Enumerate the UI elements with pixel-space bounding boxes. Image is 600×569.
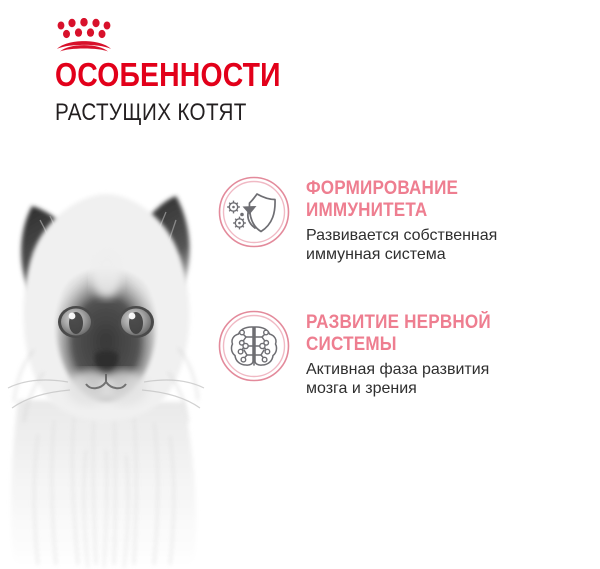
feature-heading-line1: ФОРМИРОВАНИЕ [306,178,478,200]
feature-body-nervous-system: Активная фаза развития мозга и зрения [306,360,511,398]
feature-heading-immunity: ФОРМИРОВАНИЕ ИММУНИТЕТА [306,178,478,222]
feature-heading-line2: ИММУНИТЕТА [306,200,478,222]
kitten-photo [0,150,234,569]
page-subtitle: РАСТУЩИХ КОТЯТ [55,100,247,126]
feature-text-immunity: ФОРМИРОВАНИЕ ИММУНИТЕТА Развивается собс… [306,176,497,264]
feature-item-immunity: ФОРМИРОВАНИЕ ИММУНИТЕТА Развивается собс… [218,176,497,264]
page-title: ОСОБЕННОСТИ [55,58,281,92]
feature-heading-line2: СИСТЕМЫ [306,334,491,356]
feature-item-nervous-system: РАЗВИТИЕ НЕРВНОЙ СИСТЕМЫ Активная фаза р… [218,310,511,398]
feature-body-immunity: Развивается собственная иммунная система [306,226,497,264]
feature-text-nervous-system: РАЗВИТИЕ НЕРВНОЙ СИСТЕМЫ Активная фаза р… [306,310,511,398]
feature-body-line1: Активная фаза развития [306,360,511,379]
feature-body-line2: иммунная система [306,245,497,264]
feature-heading-nervous-system: РАЗВИТИЕ НЕРВНОЙ СИСТЕМЫ [306,312,491,356]
royal-canin-crown-icon [55,18,115,52]
shield-immunity-icon [218,176,290,248]
feature-body-line1: Развивается собственная [306,226,497,245]
feature-body-line2: мозга и зрения [306,379,511,398]
feature-heading-line1: РАЗВИТИЕ НЕРВНОЙ [306,312,491,334]
promo-banner: ОСОБЕННОСТИ РАСТУЩИХ КОТЯТ [0,0,600,569]
brain-nervous-system-icon [218,310,290,382]
